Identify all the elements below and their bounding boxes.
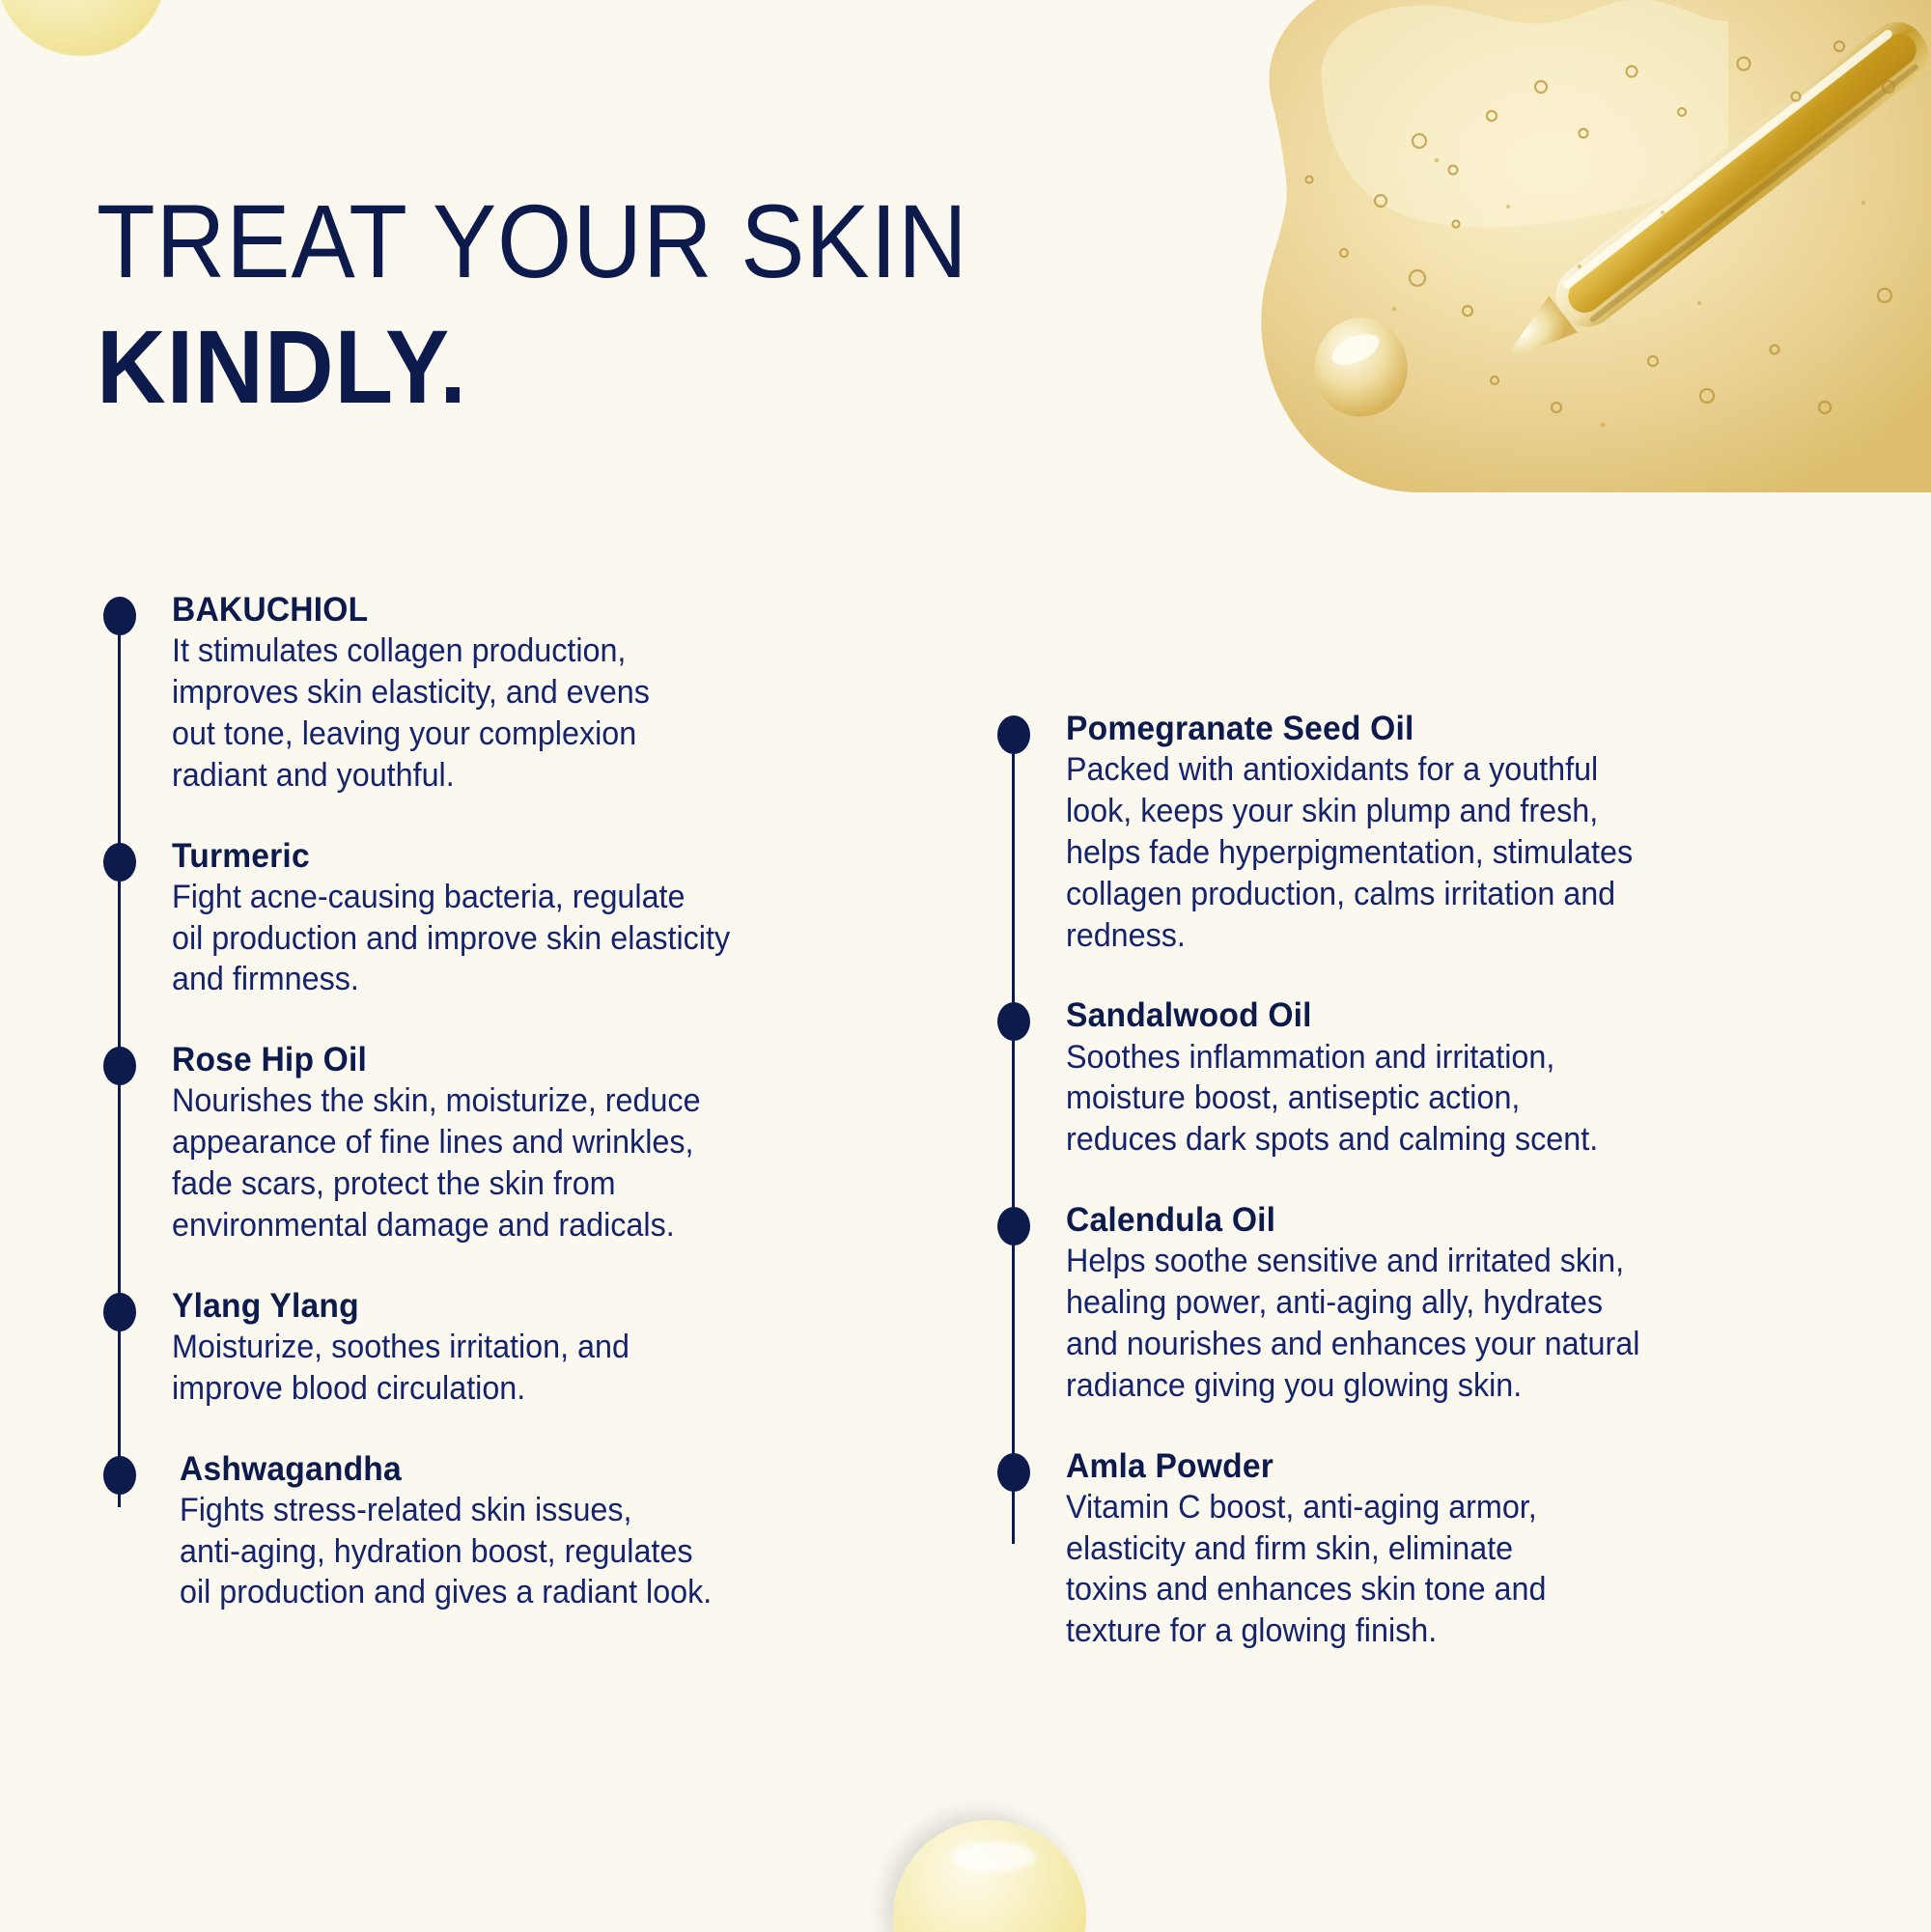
ingredient-description: Vitamin C boost, anti-aging armor, elast… [1066, 1487, 1824, 1652]
list-item: Ashwagandha Fights stress-related skin i… [100, 1450, 921, 1614]
list-item: Rose Hip Oil Nourishes the skin, moistur… [100, 1041, 921, 1246]
bullet-dot-icon [997, 1207, 1030, 1246]
list-item: Sandalwood Oil Soothes inflammation and … [994, 996, 1863, 1161]
ingredient-title: Amla Powder [1066, 1447, 1832, 1485]
ingredients-list-left: BAKUCHIOL It stimulates collagen product… [100, 591, 921, 1613]
ingredient-description: Moisturize, soothes irritation, and impr… [172, 1327, 883, 1410]
list-item: Pomegranate Seed Oil Packed with antioxi… [994, 710, 1863, 956]
bullet-dot-icon [103, 1456, 136, 1495]
oil-blob-hero-image [965, 0, 1931, 492]
ingredient-description: It stimulates collagen production, impro… [172, 630, 883, 796]
ingredient-description: Soothes inflammation and irritation, moi… [1066, 1037, 1824, 1161]
ingredient-description: Packed with antioxidants for a youthful … [1066, 749, 1824, 956]
ingredient-description: Fights stress-related skin issues, anti-… [180, 1490, 884, 1613]
headline-line-1: TREAT YOUR SKIN [97, 189, 968, 294]
ingredient-description: Helps soothe sensitive and irritated ski… [1066, 1241, 1824, 1406]
droplet-top-left-icon [0, 0, 166, 56]
ingredients-list-right: Pomegranate Seed Oil Packed with antioxi… [994, 710, 1863, 1652]
bullet-dot-icon [103, 597, 136, 635]
bullet-dot-icon [997, 1002, 1030, 1041]
ingredient-title: Calendula Oil [1066, 1201, 1832, 1239]
bullet-dot-icon [997, 715, 1030, 754]
ingredient-title: Sandalwood Oil [1066, 996, 1832, 1034]
bullet-dot-icon [103, 1047, 136, 1085]
bullet-dot-icon [103, 843, 136, 882]
ingredient-title: Turmeric [172, 837, 891, 875]
list-item: Turmeric Fight acne-causing bacteria, re… [100, 837, 921, 1001]
ingredient-description: Fight acne-causing bacteria, regulate oi… [172, 877, 883, 1000]
page-title: TREAT YOUR SKIN KINDLY. [97, 189, 1044, 419]
bullet-dot-icon [103, 1293, 136, 1331]
list-item: Amla Powder Vitamin C boost, anti-aging … [994, 1447, 1863, 1653]
ingredient-title: Ylang Ylang [172, 1287, 891, 1325]
list-item: Calendula Oil Helps soothe sensitive and… [994, 1201, 1863, 1407]
droplet-bottom-icon [893, 1820, 1086, 1932]
ingredient-title: Pomegranate Seed Oil [1066, 710, 1832, 747]
ingredient-title: Rose Hip Oil [172, 1041, 891, 1078]
ingredient-title: Ashwagandha [180, 1450, 891, 1488]
list-item: Ylang Ylang Moisturize, soothes irritati… [100, 1287, 921, 1410]
bullet-dot-icon [997, 1453, 1030, 1492]
ingredient-description: Nourishes the skin, moisturize, reduce a… [172, 1080, 883, 1246]
list-item: BAKUCHIOL It stimulates collagen product… [100, 591, 921, 797]
ingredient-title: BAKUCHIOL [172, 591, 891, 629]
headline-line-2: KINDLY. [97, 315, 968, 419]
